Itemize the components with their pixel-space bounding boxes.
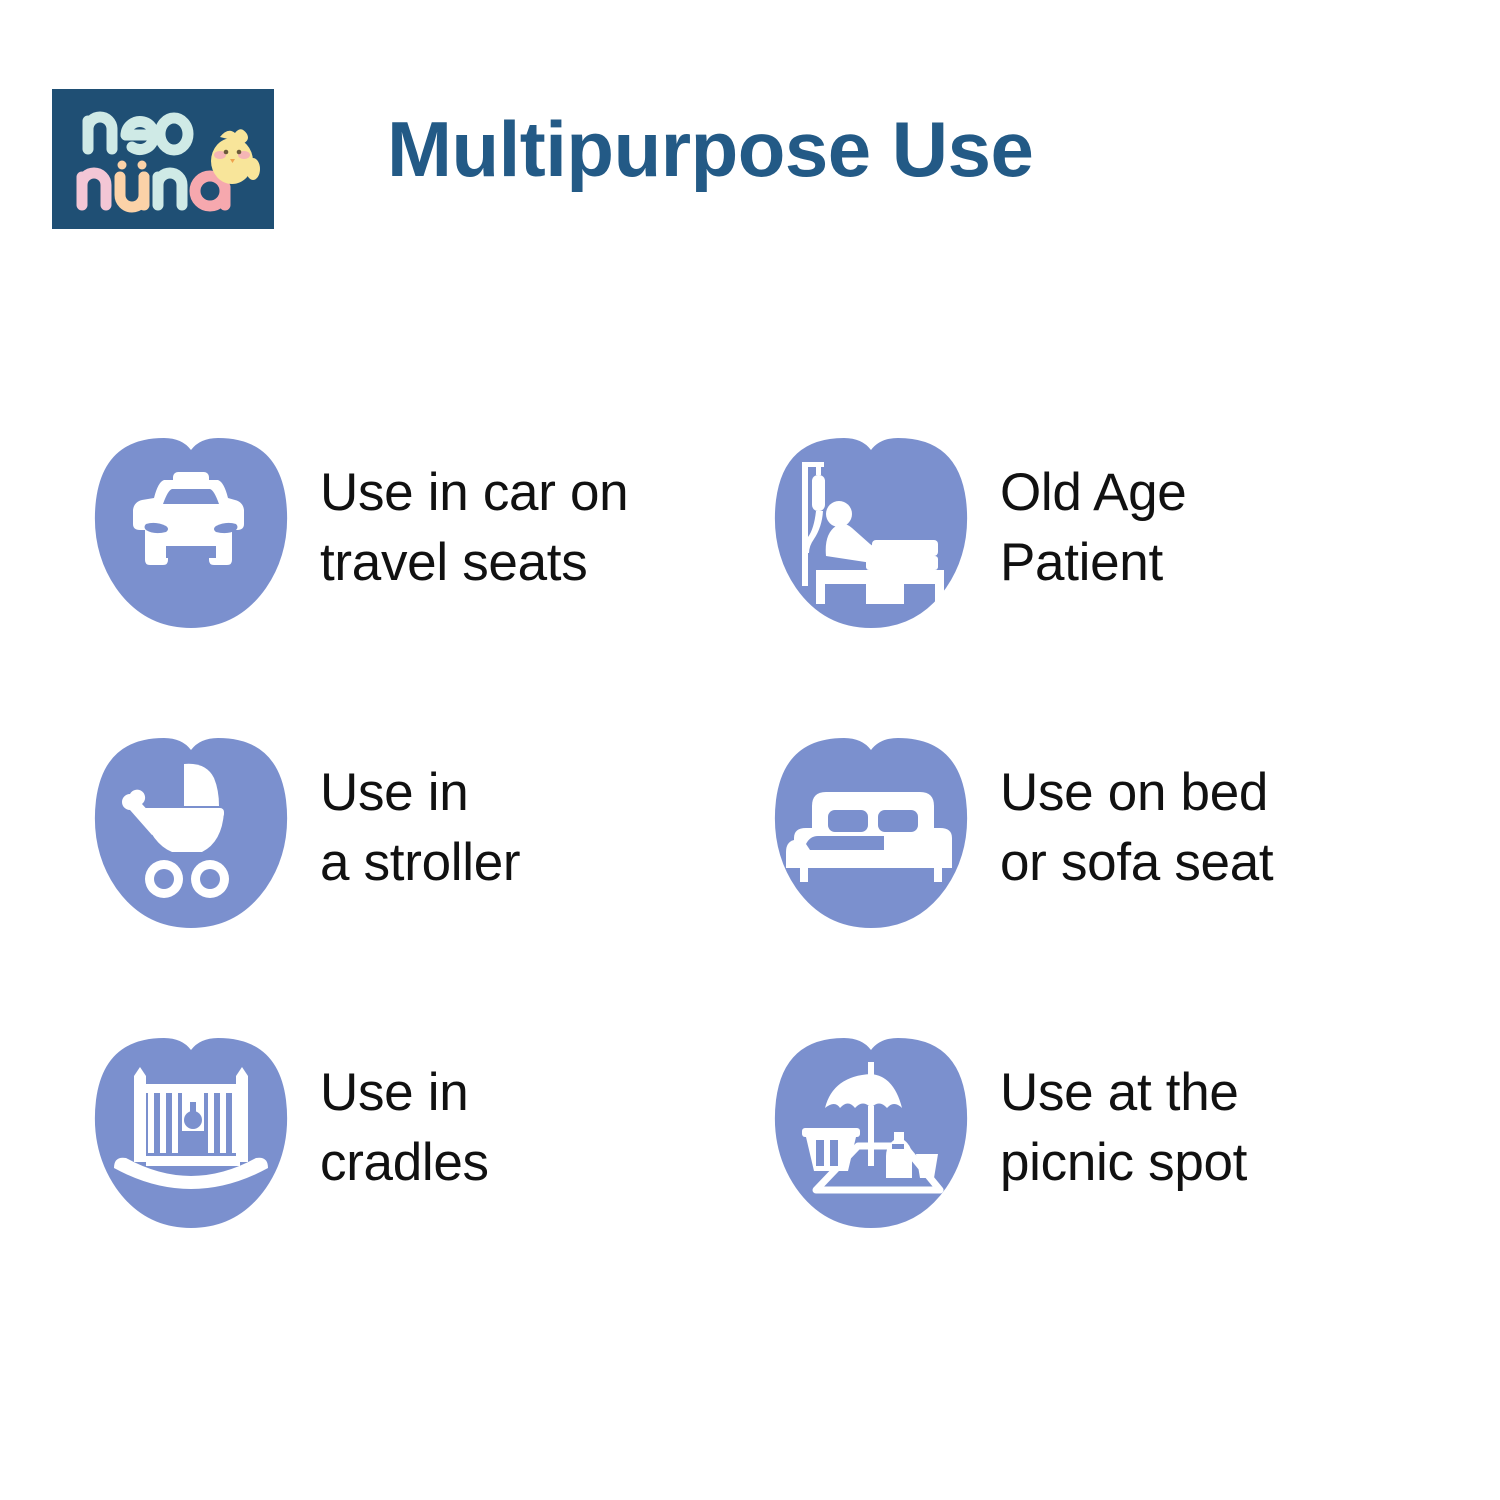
feature-item-patient: Old Age Patient (766, 428, 1186, 628)
feature-item-cradle: Use in cradles (86, 1028, 489, 1228)
page-header: Multipurpose Use (0, 0, 1500, 340)
feature-label-cradle: Use in cradles (320, 1058, 489, 1198)
baby-stroller-icon (86, 728, 296, 928)
bed-sofa-icon (766, 728, 976, 928)
neo-nuna-logo-icon (52, 89, 274, 229)
feature-label-sofa: Use on bed or sofa seat (1000, 758, 1273, 898)
page-title: Multipurpose Use (387, 103, 1033, 195)
feature-item-sofa: Use on bed or sofa seat (766, 728, 1273, 928)
feature-item-stroller: Use in a stroller (86, 728, 520, 928)
feature-item-car: Use in car on travel seats (86, 428, 628, 628)
feature-grid: Use in car on travel seats (0, 400, 1500, 1260)
brand-logo (52, 89, 274, 229)
feature-label-picnic: Use at the picnic spot (1000, 1058, 1247, 1198)
feature-label-stroller: Use in a stroller (320, 758, 520, 898)
feature-item-picnic: Use at the picnic spot (766, 1028, 1247, 1228)
feature-label-patient: Old Age Patient (1000, 458, 1186, 598)
hospital-bed-patient-icon (766, 428, 976, 628)
taxi-car-icon (86, 428, 296, 628)
picnic-umbrella-icon (766, 1028, 976, 1228)
cradle-icon (86, 1028, 296, 1228)
feature-label-car: Use in car on travel seats (320, 458, 628, 598)
